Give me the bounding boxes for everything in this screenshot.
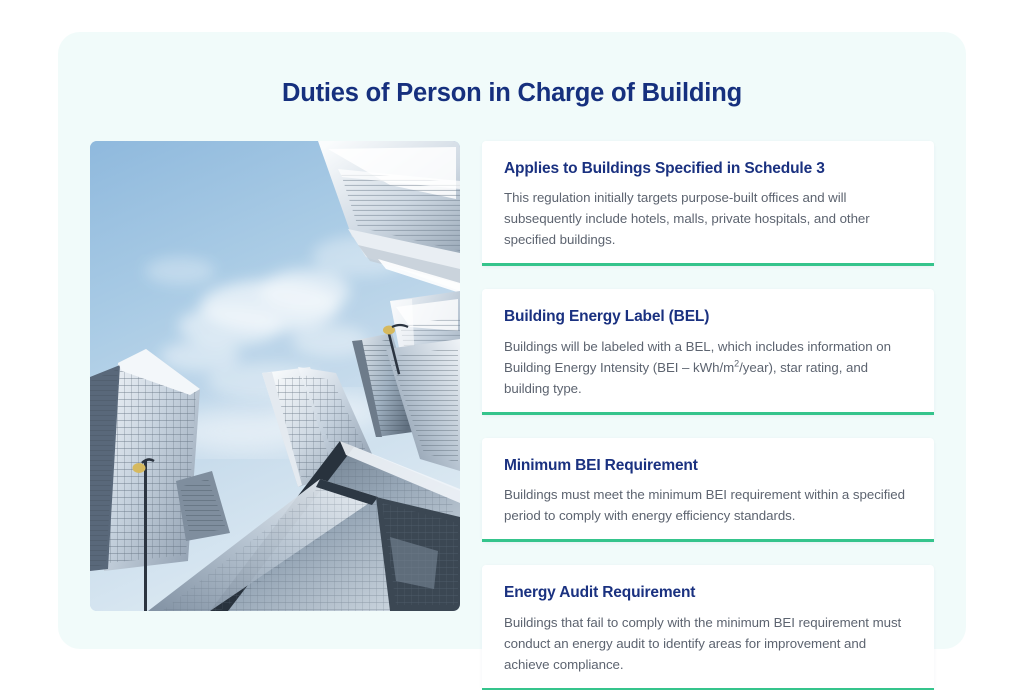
card-body-text: Buildings must meet the minimum BEI requ… bbox=[504, 487, 905, 523]
duties-card-list: Applies to Buildings Specified in Schedu… bbox=[482, 141, 934, 690]
skyscrapers-illustration bbox=[90, 141, 460, 611]
card-body: Buildings that fail to comply with the m… bbox=[504, 612, 912, 675]
card-body: This regulation initially targets purpos… bbox=[504, 187, 912, 250]
card-body: Buildings will be labeled with a BEL, wh… bbox=[504, 336, 912, 399]
card-accent-bar bbox=[482, 263, 934, 266]
card-title: Applies to Buildings Specified in Schedu… bbox=[504, 159, 912, 178]
card-title: Minimum BEI Requirement bbox=[504, 456, 912, 475]
page-title: Duties of Person in Charge of Building bbox=[58, 78, 966, 109]
content-panel: Duties of Person in Charge of Building bbox=[58, 32, 966, 649]
card-accent-bar bbox=[482, 539, 934, 542]
card-body-text: Buildings that fail to comply with the m… bbox=[504, 615, 901, 672]
card-body: Buildings must meet the minimum BEI requ… bbox=[504, 484, 912, 526]
duty-card[interactable]: Energy Audit Requirement Buildings that … bbox=[482, 565, 934, 690]
screenshot-root: Duties of Person in Charge of Building bbox=[0, 0, 1024, 690]
card-title: Building Energy Label (BEL) bbox=[504, 307, 912, 326]
duty-card[interactable]: Applies to Buildings Specified in Schedu… bbox=[482, 141, 934, 266]
card-accent-bar bbox=[482, 412, 934, 415]
duty-card[interactable]: Minimum BEI Requirement Buildings must m… bbox=[482, 438, 934, 542]
card-title: Energy Audit Requirement bbox=[504, 583, 912, 602]
skyscrapers-photo bbox=[90, 141, 460, 611]
duty-card[interactable]: Building Energy Label (BEL) Buildings wi… bbox=[482, 289, 934, 414]
card-body-text: This regulation initially targets purpos… bbox=[504, 190, 870, 247]
